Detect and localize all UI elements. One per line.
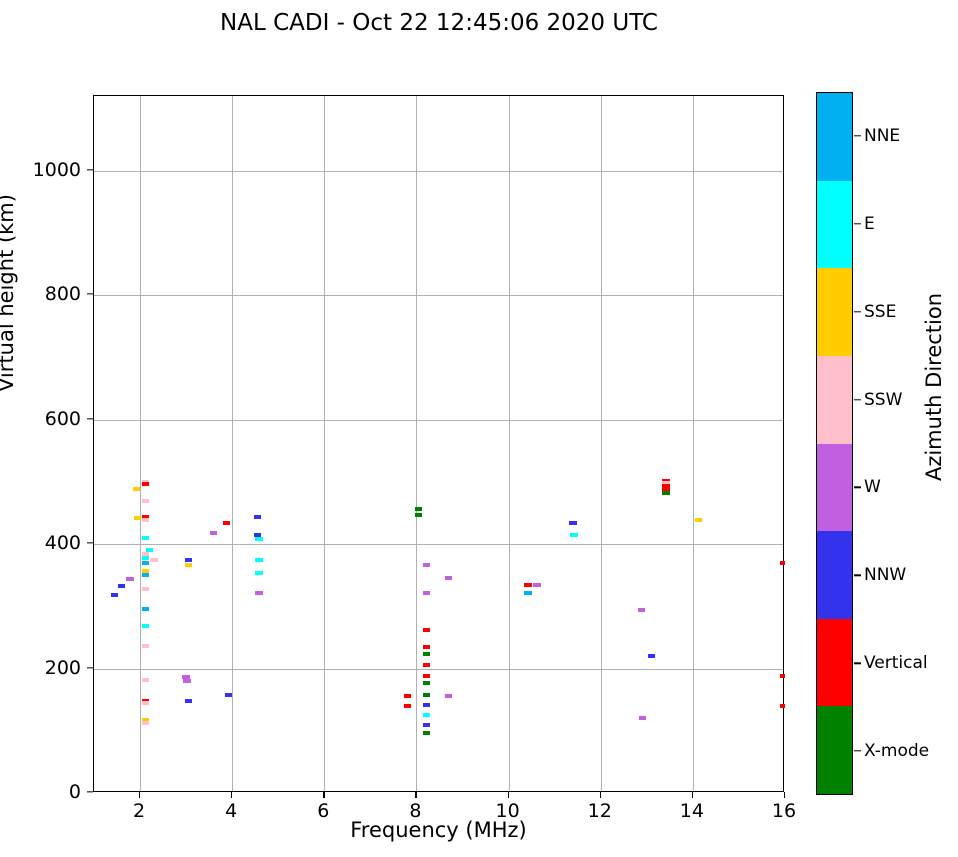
data-marker <box>183 679 190 683</box>
colorbar-label-sse: SSE <box>864 302 896 322</box>
data-marker <box>423 674 430 678</box>
data-marker <box>423 663 430 667</box>
data-marker <box>423 723 430 727</box>
data-marker <box>150 558 157 562</box>
data-marker <box>415 507 422 511</box>
data-marker <box>133 487 140 491</box>
gridline-vertical <box>601 96 602 791</box>
plot-area <box>93 95 784 792</box>
data-marker <box>445 576 452 580</box>
data-marker <box>404 704 411 708</box>
data-marker <box>695 518 702 522</box>
data-marker <box>648 654 655 658</box>
colorbar-segment-vertical <box>817 619 852 707</box>
data-marker <box>423 703 430 707</box>
y-tick-mark <box>87 791 93 792</box>
data-marker <box>404 694 411 698</box>
colorbar-label: Azimuth Direction <box>922 177 946 597</box>
gridline-vertical <box>509 96 510 791</box>
ionogram-figure: NAL CADI - Oct 22 12:45:06 2020 UTC 0200… <box>0 0 958 857</box>
colorbar <box>816 92 853 795</box>
x-tick-mark <box>231 792 232 798</box>
data-marker <box>423 693 430 697</box>
data-marker <box>142 607 149 611</box>
colorbar-segment-ssw <box>817 356 852 444</box>
y-tick-mark <box>87 169 93 170</box>
x-tick-mark <box>784 792 785 798</box>
x-axis-label: Frequency (MHz) <box>93 818 784 842</box>
data-marker <box>142 644 149 648</box>
data-marker <box>445 694 452 698</box>
gridline-horizontal <box>94 544 783 545</box>
data-marker <box>255 537 262 541</box>
data-marker <box>134 516 141 520</box>
gridline-vertical <box>232 96 233 791</box>
colorbar-label-w: W <box>864 477 881 497</box>
data-marker <box>142 499 149 503</box>
gridline-vertical <box>416 96 417 791</box>
data-marker <box>255 591 262 595</box>
colorbar-tick-mark <box>854 311 861 312</box>
x-tick-mark <box>323 792 324 798</box>
x-tick-mark <box>508 792 509 798</box>
data-marker <box>423 681 430 685</box>
colorbar-segment-x-mode <box>817 706 852 794</box>
x-tick-mark <box>415 792 416 798</box>
colorbar-tick-mark <box>854 575 861 576</box>
colorbar-tick-mark <box>854 487 861 488</box>
gridline-horizontal <box>94 669 783 670</box>
gridline-horizontal <box>94 420 783 421</box>
data-marker <box>524 591 531 595</box>
data-marker <box>126 577 133 581</box>
y-tick-label: 200 <box>1 657 81 679</box>
colorbar-label-ssw: SSW <box>864 390 902 410</box>
data-marker <box>111 593 118 597</box>
data-marker <box>254 515 261 519</box>
x-tick-mark <box>600 792 601 798</box>
y-tick-mark <box>87 418 93 419</box>
data-marker <box>118 584 125 588</box>
data-marker <box>142 518 149 522</box>
data-marker <box>142 561 149 565</box>
data-marker <box>142 536 149 540</box>
data-marker <box>255 571 262 575</box>
data-marker <box>210 531 217 535</box>
data-marker <box>423 628 430 632</box>
data-marker <box>662 491 669 495</box>
data-marker <box>423 713 430 717</box>
data-marker <box>142 721 149 725</box>
x-tick-mark <box>692 792 693 798</box>
data-marker <box>780 561 785 565</box>
data-marker <box>223 521 230 525</box>
colorbar-tick-mark <box>854 135 861 136</box>
data-marker <box>142 587 149 591</box>
data-marker <box>142 556 149 560</box>
page-title: NAL CADI - Oct 22 12:45:06 2020 UTC <box>0 10 878 36</box>
gridline-vertical <box>324 96 325 791</box>
y-tick-label: 0 <box>1 781 81 803</box>
data-marker <box>533 583 540 587</box>
colorbar-tick-mark <box>854 750 861 751</box>
y-tick-label: 400 <box>1 532 81 554</box>
colorbar-label-nne: NNE <box>864 126 900 146</box>
data-marker <box>423 645 430 649</box>
data-marker <box>185 699 192 703</box>
gridline-vertical <box>140 96 141 791</box>
gridline-vertical <box>693 96 694 791</box>
data-marker <box>638 608 645 612</box>
colorbar-tick-mark <box>854 662 861 663</box>
data-marker <box>780 674 785 678</box>
colorbar-segment-sse <box>817 268 852 356</box>
data-marker <box>415 513 422 517</box>
data-marker <box>423 731 430 735</box>
data-marker <box>185 558 192 562</box>
data-marker <box>225 693 232 697</box>
data-marker <box>423 563 430 567</box>
colorbar-label-x-mode: X-mode <box>864 741 929 761</box>
data-marker <box>423 591 430 595</box>
data-marker <box>142 678 149 682</box>
colorbar-label-e: E <box>864 214 875 234</box>
data-marker <box>524 583 531 587</box>
data-marker <box>142 573 149 577</box>
colorbar-label-vertical: Vertical <box>864 653 928 673</box>
y-tick-mark <box>87 542 93 543</box>
data-marker <box>142 701 149 705</box>
colorbar-tick-mark <box>854 223 861 224</box>
y-axis-label: Virtual height (km) <box>0 143 18 443</box>
y-tick-mark <box>87 293 93 294</box>
colorbar-segment-w <box>817 444 852 532</box>
colorbar-tick-mark <box>854 399 861 400</box>
colorbar-label-nnw: NNW <box>864 565 906 585</box>
data-marker <box>142 482 149 486</box>
data-marker <box>639 716 646 720</box>
data-marker <box>570 533 577 537</box>
colorbar-segment-nne <box>817 93 852 181</box>
y-tick-mark <box>87 667 93 668</box>
data-marker <box>146 548 153 552</box>
colorbar-segment-e <box>817 181 852 269</box>
data-marker <box>423 652 430 656</box>
data-marker <box>255 558 262 562</box>
data-marker <box>185 563 192 567</box>
colorbar-segment-nnw <box>817 531 852 619</box>
data-marker <box>142 624 149 628</box>
x-tick-mark <box>139 792 140 798</box>
data-marker <box>569 521 576 525</box>
data-marker <box>780 704 785 708</box>
gridline-horizontal <box>94 295 783 296</box>
gridline-horizontal <box>94 171 783 172</box>
